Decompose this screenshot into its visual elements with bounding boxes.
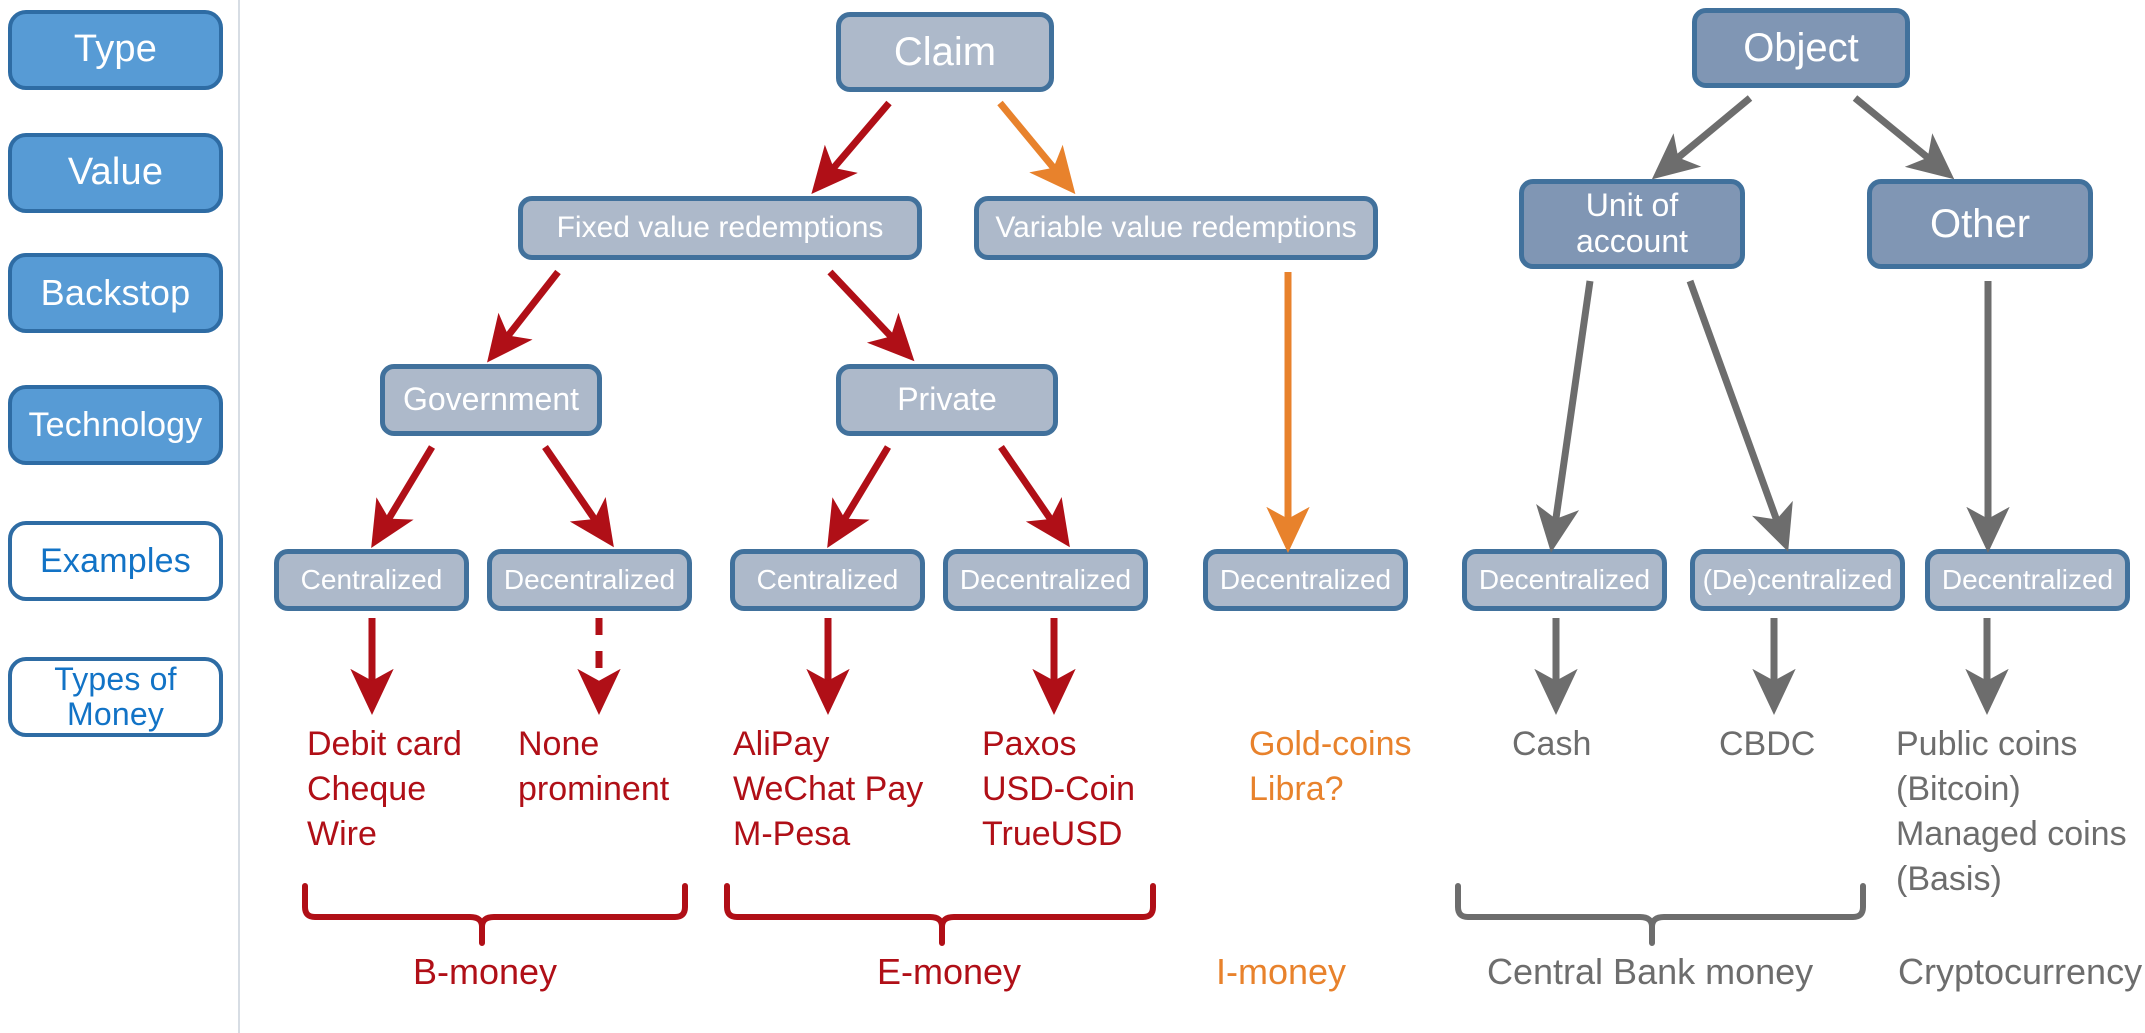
brace-central-bank-money: [1458, 886, 1863, 943]
sidebar-item-technology[interactable]: Technology: [8, 385, 223, 465]
connector-layer: [0, 0, 2145, 1033]
node-tech-gov-centralized[interactable]: Centralized: [274, 549, 469, 611]
node-claim[interactable]: Claim: [836, 12, 1054, 92]
node-object[interactable]: Object: [1692, 8, 1910, 88]
node-label: Centralized: [301, 564, 443, 595]
sidebar-item-type[interactable]: Type: [8, 10, 223, 90]
node-label: Government: [403, 382, 579, 418]
node-unit-of-account[interactable]: Unit of account: [1519, 179, 1745, 269]
node-label: Decentralized: [1942, 564, 2113, 595]
arrow-unit-of-account-to-decentralized: [1554, 281, 1590, 532]
brace-b-money: [305, 886, 685, 943]
arrow-claim-to-fixed: [825, 103, 889, 178]
node-label: Variable value redemptions: [995, 211, 1356, 245]
sidebar-item-label: Technology: [28, 407, 202, 444]
arrow-unit-of-account-to-de-centralized: [1690, 281, 1781, 532]
node-label: Claim: [894, 30, 996, 75]
arrow-private-to-decentralized: [1001, 447, 1058, 530]
sidebar-item-examples[interactable]: Examples: [8, 521, 223, 601]
sidebar-item-backstop[interactable]: Backstop: [8, 253, 223, 333]
sidebar-item-label: Value: [68, 152, 163, 193]
arrow-object-to-other: [1855, 98, 1938, 166]
arrow-fixed-to-government: [500, 272, 558, 346]
node-label: Centralized: [757, 564, 899, 595]
arrow-private-to-centralized: [838, 447, 888, 530]
examples-gov-centralized: Debit card Cheque Wire: [307, 722, 462, 857]
sidebar-item-value[interactable]: Value: [8, 133, 223, 213]
node-tech-gov-decentralized[interactable]: Decentralized: [487, 549, 692, 611]
node-tech-priv-centralized[interactable]: Centralized: [730, 549, 925, 611]
sidebar-divider: [238, 0, 240, 1033]
examples-gov-decentralized: None prominent: [518, 722, 669, 812]
money-type-i-money: I-money: [1216, 948, 1346, 996]
arrow-government-to-decentralized: [545, 447, 602, 530]
sidebar-item-label: Examples: [40, 543, 191, 580]
node-label: Decentralized: [960, 564, 1131, 595]
money-type-cryptocurrency: Cryptocurrency: [1898, 948, 2142, 996]
examples-uoa-de-centralized: CBDC: [1719, 722, 1815, 767]
node-label: (De)centralized: [1703, 564, 1893, 595]
money-taxonomy-diagram: Type Value Backstop Technology Examples …: [0, 0, 2145, 1033]
node-tech-uoa-de-centralized[interactable]: (De)centralized: [1690, 549, 1905, 611]
node-tech-other-decentralized[interactable]: Decentralized: [1925, 549, 2130, 611]
sidebar-item-label: Backstop: [41, 274, 191, 313]
arrow-fixed-to-private: [830, 272, 900, 346]
node-government[interactable]: Government: [380, 364, 602, 436]
node-tech-priv-decentralized[interactable]: Decentralized: [943, 549, 1148, 611]
node-label: Unit of account: [1530, 188, 1734, 260]
node-private[interactable]: Private: [836, 364, 1058, 436]
examples-uoa-decentralized: Cash: [1512, 722, 1591, 767]
money-type-central-bank-money: Central Bank money: [1487, 948, 1813, 996]
node-label: Object: [1743, 26, 1859, 71]
sidebar-item-label: Type: [74, 29, 157, 70]
examples-priv-centralized: AliPay WeChat Pay M-Pesa: [733, 722, 923, 857]
examples-variable-decentralized: Gold-coins Libra?: [1249, 722, 1412, 812]
node-label: Decentralized: [504, 564, 675, 595]
node-tech-variable-decentralized[interactable]: Decentralized: [1203, 549, 1408, 611]
examples-priv-decentralized: Paxos USD-Coin TrueUSD: [982, 722, 1135, 857]
node-label: Other: [1930, 202, 2030, 247]
money-type-e-money: E-money: [877, 948, 1021, 996]
examples-other-decentralized: Public coins (Bitcoin) Managed coins (Ba…: [1896, 722, 2127, 902]
arrow-object-to-unit-of-account: [1668, 98, 1750, 166]
arrow-claim-to-variable: [1000, 103, 1062, 178]
brace-e-money: [727, 886, 1153, 943]
sidebar-item-label: Types of Money: [12, 662, 219, 731]
node-other[interactable]: Other: [1867, 179, 2093, 269]
node-fixed-value-redemptions[interactable]: Fixed value redemptions: [518, 196, 922, 260]
node-label: Decentralized: [1220, 564, 1391, 595]
node-tech-uoa-decentralized[interactable]: Decentralized: [1462, 549, 1667, 611]
node-label: Fixed value redemptions: [557, 211, 884, 245]
arrow-government-to-centralized: [382, 447, 432, 530]
node-label: Private: [897, 382, 997, 418]
sidebar-item-types-of-money[interactable]: Types of Money: [8, 657, 223, 737]
node-variable-value-redemptions[interactable]: Variable value redemptions: [974, 196, 1378, 260]
node-label: Decentralized: [1479, 564, 1650, 595]
money-type-b-money: B-money: [413, 948, 557, 996]
